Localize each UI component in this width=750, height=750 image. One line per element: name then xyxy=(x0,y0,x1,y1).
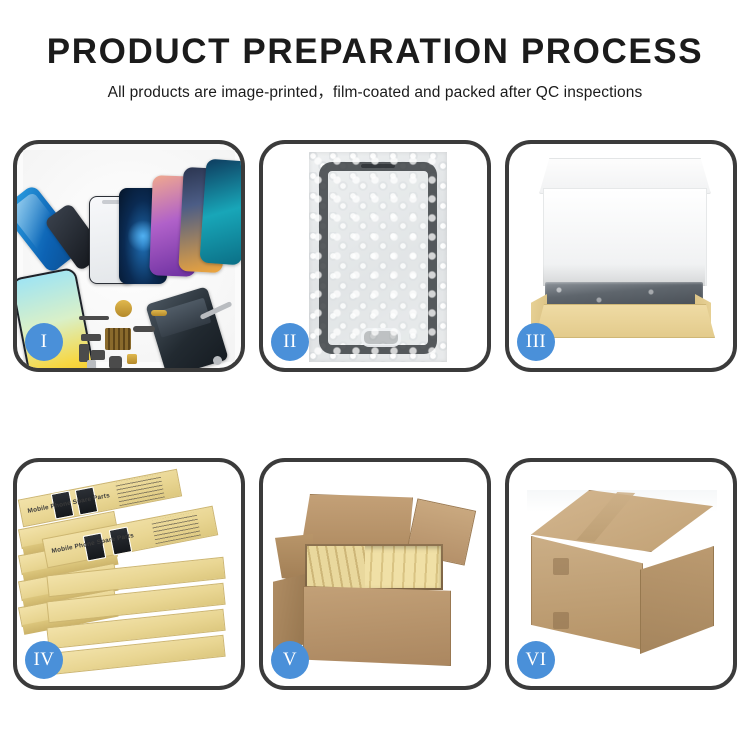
bubble-wrapped-screen-photo: II xyxy=(263,144,487,368)
part-gold-chip xyxy=(127,354,137,364)
process-step-grid: I II III xyxy=(13,140,737,690)
process-step-panel-5: V xyxy=(259,458,491,690)
process-step-panel-6: VI xyxy=(505,458,737,690)
home-button xyxy=(361,328,401,347)
part-screw xyxy=(213,356,222,365)
part-chip-array xyxy=(105,328,131,350)
step-badge-2: II xyxy=(271,323,309,361)
part-speaker xyxy=(109,356,122,368)
process-step-panel-4: Mobile Phone Spare Parts Mobile Phone Sp… xyxy=(13,458,245,690)
page-title: PRODUCT PREPARATION PROCESS xyxy=(0,34,750,71)
step-badge-5: V xyxy=(271,641,309,679)
process-step-panel-1: I xyxy=(13,140,245,372)
part-flex-strip xyxy=(79,316,109,320)
carton-handle-tab-bottom xyxy=(553,612,569,629)
products-overview-photo: I xyxy=(17,144,241,368)
step-badge-1: I xyxy=(25,323,63,361)
boxed-screen-photo: III xyxy=(509,144,733,368)
carton-handle-tab-top xyxy=(553,558,569,575)
stacked-retail-boxes-photo: Mobile Phone Spare Parts Mobile Phone Sp… xyxy=(17,462,241,686)
sealed-carton-photo: VI xyxy=(509,462,733,686)
part-module-a xyxy=(81,334,101,341)
step-badge-4: IV xyxy=(25,641,63,679)
step-badge-3: III xyxy=(517,323,555,361)
process-step-panel-2: II xyxy=(259,140,491,372)
part-gold-connector xyxy=(151,310,167,316)
box-front-face xyxy=(535,304,715,338)
packed-retail-boxes-row-2 xyxy=(307,546,365,588)
bubble-wrap-sheet xyxy=(309,152,447,362)
part-ribbon-cable xyxy=(133,326,155,332)
part-sim-tray xyxy=(87,360,96,368)
page-header: PRODUCT PREPARATION PROCESS All products… xyxy=(0,0,750,102)
step-badge-6: VI xyxy=(517,641,555,679)
teal-gradient-phone xyxy=(199,159,241,266)
open-carton-photo: V xyxy=(263,462,487,686)
carton-front-face xyxy=(531,536,643,650)
carton-side-face xyxy=(640,546,714,654)
screen-assembly-outline xyxy=(319,162,437,354)
part-gold-coil xyxy=(115,300,132,317)
carton-front-face xyxy=(303,586,451,666)
page-subtitle: All products are image-printed，film-coat… xyxy=(0,80,750,102)
part-module-c xyxy=(91,350,105,360)
process-step-panel-3: III xyxy=(505,140,737,372)
